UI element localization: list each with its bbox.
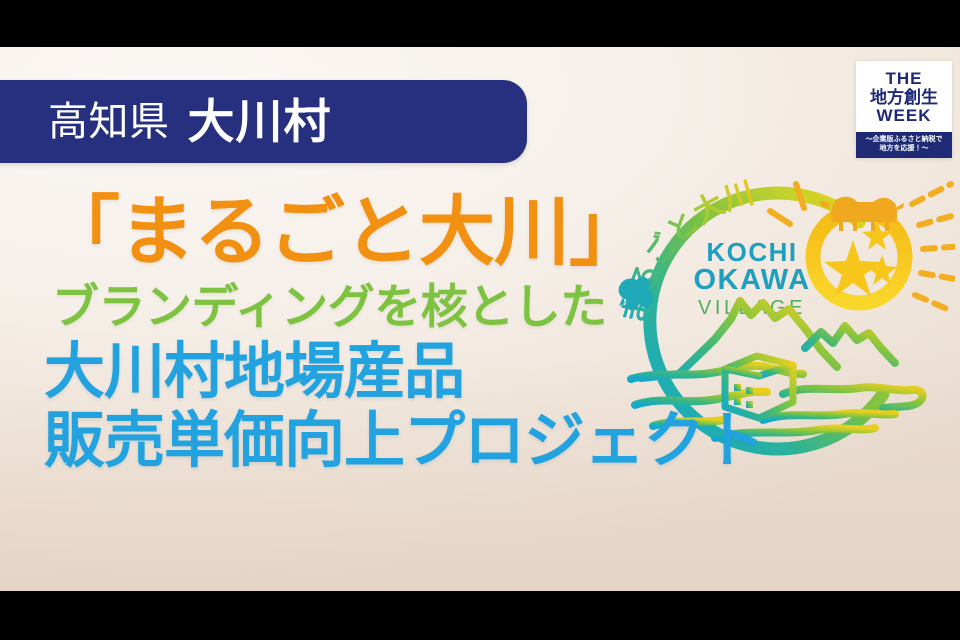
- badge-body: THE 地方創生 WEEK: [856, 61, 952, 132]
- village-label: 大川村: [188, 98, 332, 145]
- badge-caption-line-2: 地方を応援！〜: [858, 144, 950, 153]
- project-brand-title: 「まるごと大川」: [44, 195, 764, 271]
- sun-rays-icon: [912, 184, 955, 311]
- badge-line-week: WEEK: [860, 107, 948, 125]
- prefecture-label: 高知県: [48, 102, 170, 142]
- badge-line-chihousousei: 地方創生: [860, 88, 948, 107]
- chihou-sousei-week-badge: THE 地方創生 WEEK 〜企業版ふるさと納税で 地方を応援！〜: [856, 61, 952, 158]
- letterbox-bar-bottom: [0, 591, 960, 640]
- badge-line-the: THE: [860, 70, 948, 88]
- project-main-line-2: 販売単価向上プロジェクト: [44, 410, 764, 471]
- slide-canvas: 高知県 大川村 「まるごと大川」 ブランディングを核とした 大川村地場産品 販売…: [0, 0, 960, 640]
- letterbox-bar-top: [0, 0, 960, 47]
- badge-caption-line-1: 〜企業版ふるさと納税で: [858, 135, 950, 144]
- slide-stage: 高知県 大川村 「まるごと大川」 ブランディングを核とした 大川村地場産品 販売…: [0, 47, 960, 591]
- project-main-line-1: 大川村地場産品: [44, 341, 764, 402]
- badge-caption-strip: 〜企業版ふるさと納税で 地方を応援！〜: [856, 132, 952, 158]
- prefecture-village-banner: 高知県 大川村: [0, 80, 527, 163]
- headline-block: 「まるごと大川」 ブランディングを核とした 大川村地場産品 販売単価向上プロジェ…: [44, 195, 764, 471]
- project-subtitle: ブランディングを核とした: [52, 283, 764, 330]
